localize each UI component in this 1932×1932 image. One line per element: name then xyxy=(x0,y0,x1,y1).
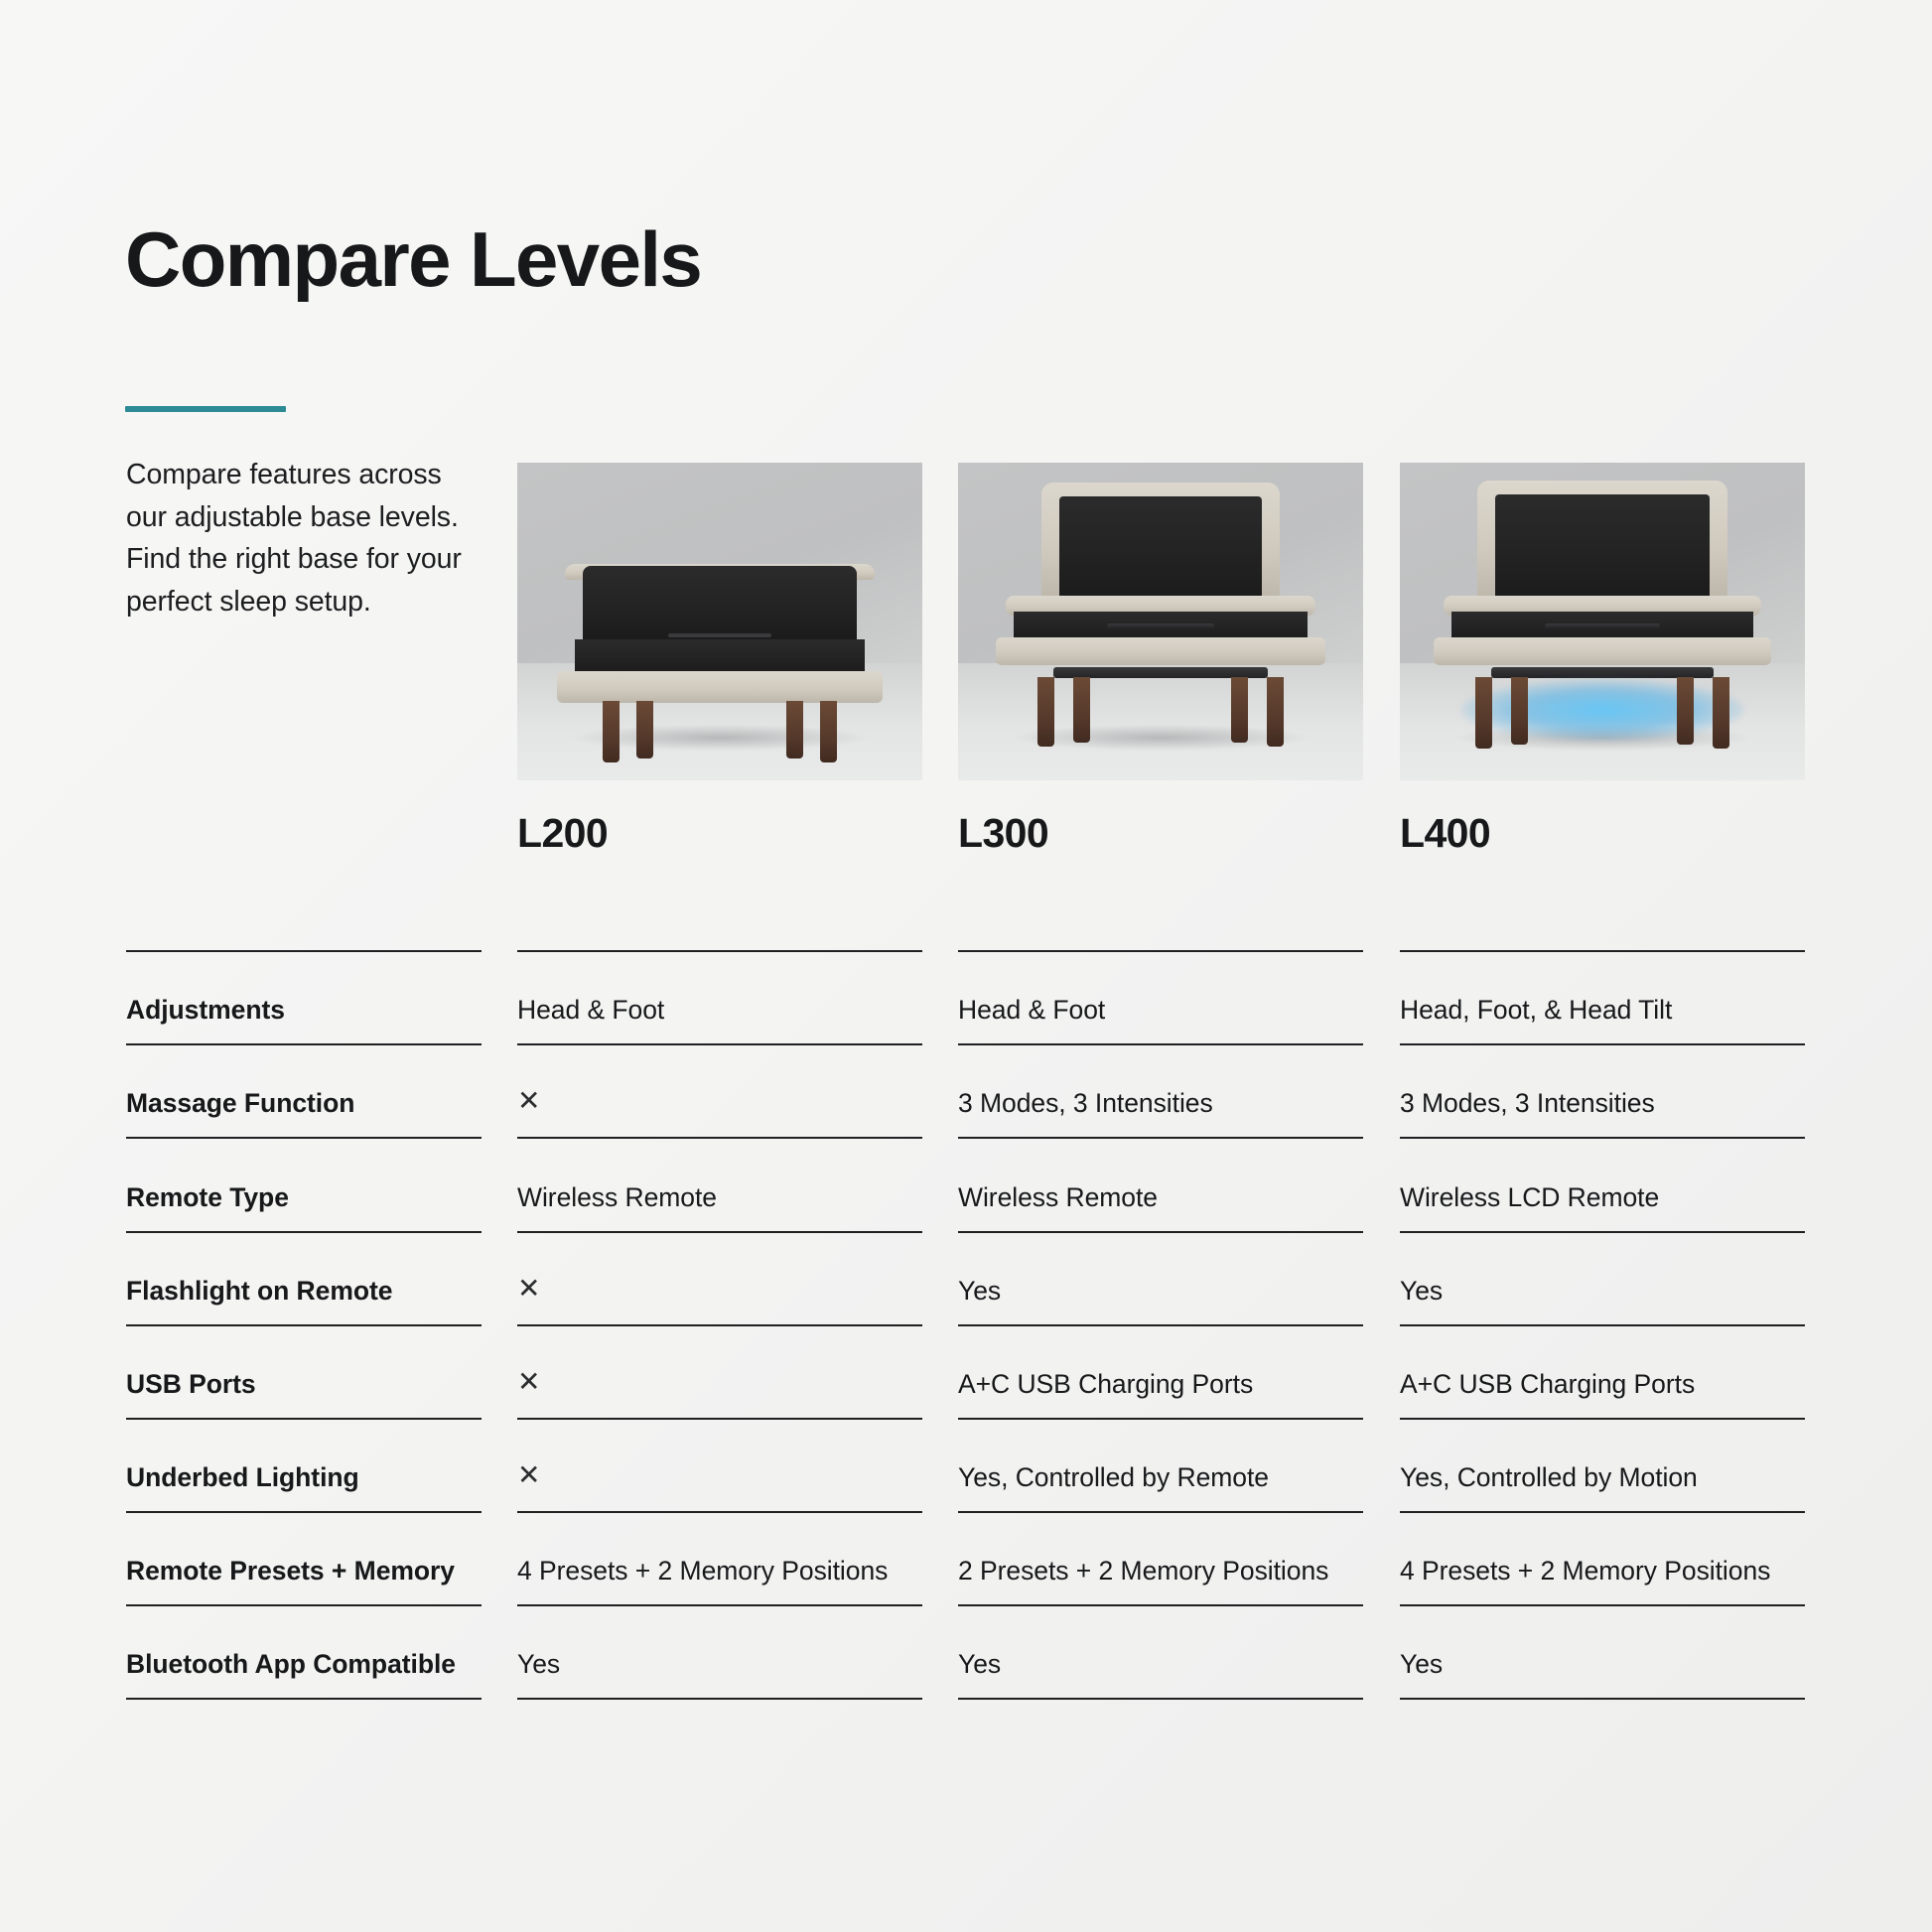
row-label: Massage Function xyxy=(126,1086,354,1120)
row-divider xyxy=(126,1511,482,1513)
row-divider xyxy=(517,1043,922,1045)
row-divider xyxy=(517,1324,922,1326)
table-cell-unavailable: ✕ xyxy=(517,1458,540,1492)
row-divider xyxy=(517,1511,922,1513)
bed-illustration-head-raised xyxy=(958,463,1363,780)
product-name-l200: L200 xyxy=(517,810,608,857)
row-divider-bottom xyxy=(126,1698,482,1700)
row-divider xyxy=(958,1511,1363,1513)
row-divider-top xyxy=(126,950,482,952)
underbed-light-glow xyxy=(1461,679,1743,741)
row-divider xyxy=(126,1043,482,1045)
row-divider-top xyxy=(517,950,922,952)
row-label: Bluetooth App Compatible xyxy=(126,1647,456,1681)
row-divider xyxy=(517,1231,922,1233)
row-divider xyxy=(1400,1511,1805,1513)
table-cell: Yes xyxy=(1400,1274,1443,1308)
table-cell: 4 Presets + 2 Memory Positions xyxy=(1400,1554,1770,1587)
row-divider xyxy=(958,1231,1363,1233)
row-divider xyxy=(126,1324,482,1326)
table-cell: Yes xyxy=(517,1647,560,1681)
row-divider-top xyxy=(958,950,1363,952)
table-cell: Yes xyxy=(958,1274,1001,1308)
product-image-l400 xyxy=(1400,463,1805,780)
row-divider-bottom xyxy=(958,1698,1363,1700)
table-cell: 3 Modes, 3 Intensities xyxy=(1400,1086,1655,1120)
table-cell: Head & Foot xyxy=(958,993,1105,1027)
product-image-l200 xyxy=(517,463,922,780)
row-divider xyxy=(126,1231,482,1233)
table-cell-unavailable: ✕ xyxy=(517,1365,540,1399)
product-card-l300[interactable]: L300 xyxy=(958,463,1363,780)
table-cell: Yes xyxy=(1400,1647,1443,1681)
table-cell-unavailable: ✕ xyxy=(517,1084,540,1118)
row-label: USB Ports xyxy=(126,1367,256,1401)
row-divider xyxy=(126,1604,482,1606)
row-divider xyxy=(958,1137,1363,1139)
row-divider xyxy=(126,1418,482,1420)
table-cell: A+C USB Charging Ports xyxy=(958,1367,1253,1401)
table-cell: A+C USB Charging Ports xyxy=(1400,1367,1695,1401)
table-cell: Head & Foot xyxy=(517,993,664,1027)
row-divider xyxy=(1400,1137,1805,1139)
product-name-l300: L300 xyxy=(958,810,1048,857)
row-divider xyxy=(517,1604,922,1606)
product-card-l400[interactable]: L400 xyxy=(1400,463,1805,780)
row-divider-bottom xyxy=(1400,1698,1805,1700)
row-label: Flashlight on Remote xyxy=(126,1274,392,1308)
product-name-l400: L400 xyxy=(1400,810,1490,857)
row-label: Underbed Lighting xyxy=(126,1460,359,1494)
accent-rule-divider xyxy=(125,406,286,412)
row-divider xyxy=(1400,1043,1805,1045)
table-cell: Yes, Controlled by Remote xyxy=(958,1460,1269,1494)
row-label: Adjustments xyxy=(126,993,285,1027)
table-cell: Yes xyxy=(958,1647,1001,1681)
table-cell: 2 Presets + 2 Memory Positions xyxy=(958,1554,1328,1587)
row-divider xyxy=(958,1604,1363,1606)
row-divider xyxy=(958,1324,1363,1326)
row-divider xyxy=(1400,1324,1805,1326)
row-divider xyxy=(1400,1231,1805,1233)
product-card-l200[interactable]: L200 xyxy=(517,463,922,780)
row-divider-bottom xyxy=(517,1698,922,1700)
page-title: Compare Levels xyxy=(125,220,701,298)
table-cell: Wireless Remote xyxy=(958,1180,1158,1214)
row-label: Remote Presets + Memory xyxy=(126,1554,455,1587)
row-divider xyxy=(517,1418,922,1420)
product-image-l300 xyxy=(958,463,1363,780)
row-divider xyxy=(958,1043,1363,1045)
row-divider xyxy=(517,1137,922,1139)
bed-illustration-flat xyxy=(517,463,922,780)
row-divider xyxy=(1400,1418,1805,1420)
row-divider xyxy=(958,1418,1363,1420)
table-cell-unavailable: ✕ xyxy=(517,1272,540,1306)
table-cell: Head, Foot, & Head Tilt xyxy=(1400,993,1672,1027)
table-cell: 3 Modes, 3 Intensities xyxy=(958,1086,1213,1120)
row-divider xyxy=(126,1137,482,1139)
table-cell: 4 Presets + 2 Memory Positions xyxy=(517,1554,888,1587)
row-divider-top xyxy=(1400,950,1805,952)
bed-illustration-head-raised-lit xyxy=(1400,463,1805,780)
table-cell: Wireless LCD Remote xyxy=(1400,1180,1659,1214)
table-cell: Wireless Remote xyxy=(517,1180,717,1214)
intro-paragraph: Compare features across our adjustable b… xyxy=(126,454,483,622)
table-cell: Yes, Controlled by Motion xyxy=(1400,1460,1698,1494)
row-label: Remote Type xyxy=(126,1180,289,1214)
compare-levels-page: Compare Levels Compare features across o… xyxy=(0,0,1932,1932)
row-divider xyxy=(1400,1604,1805,1606)
